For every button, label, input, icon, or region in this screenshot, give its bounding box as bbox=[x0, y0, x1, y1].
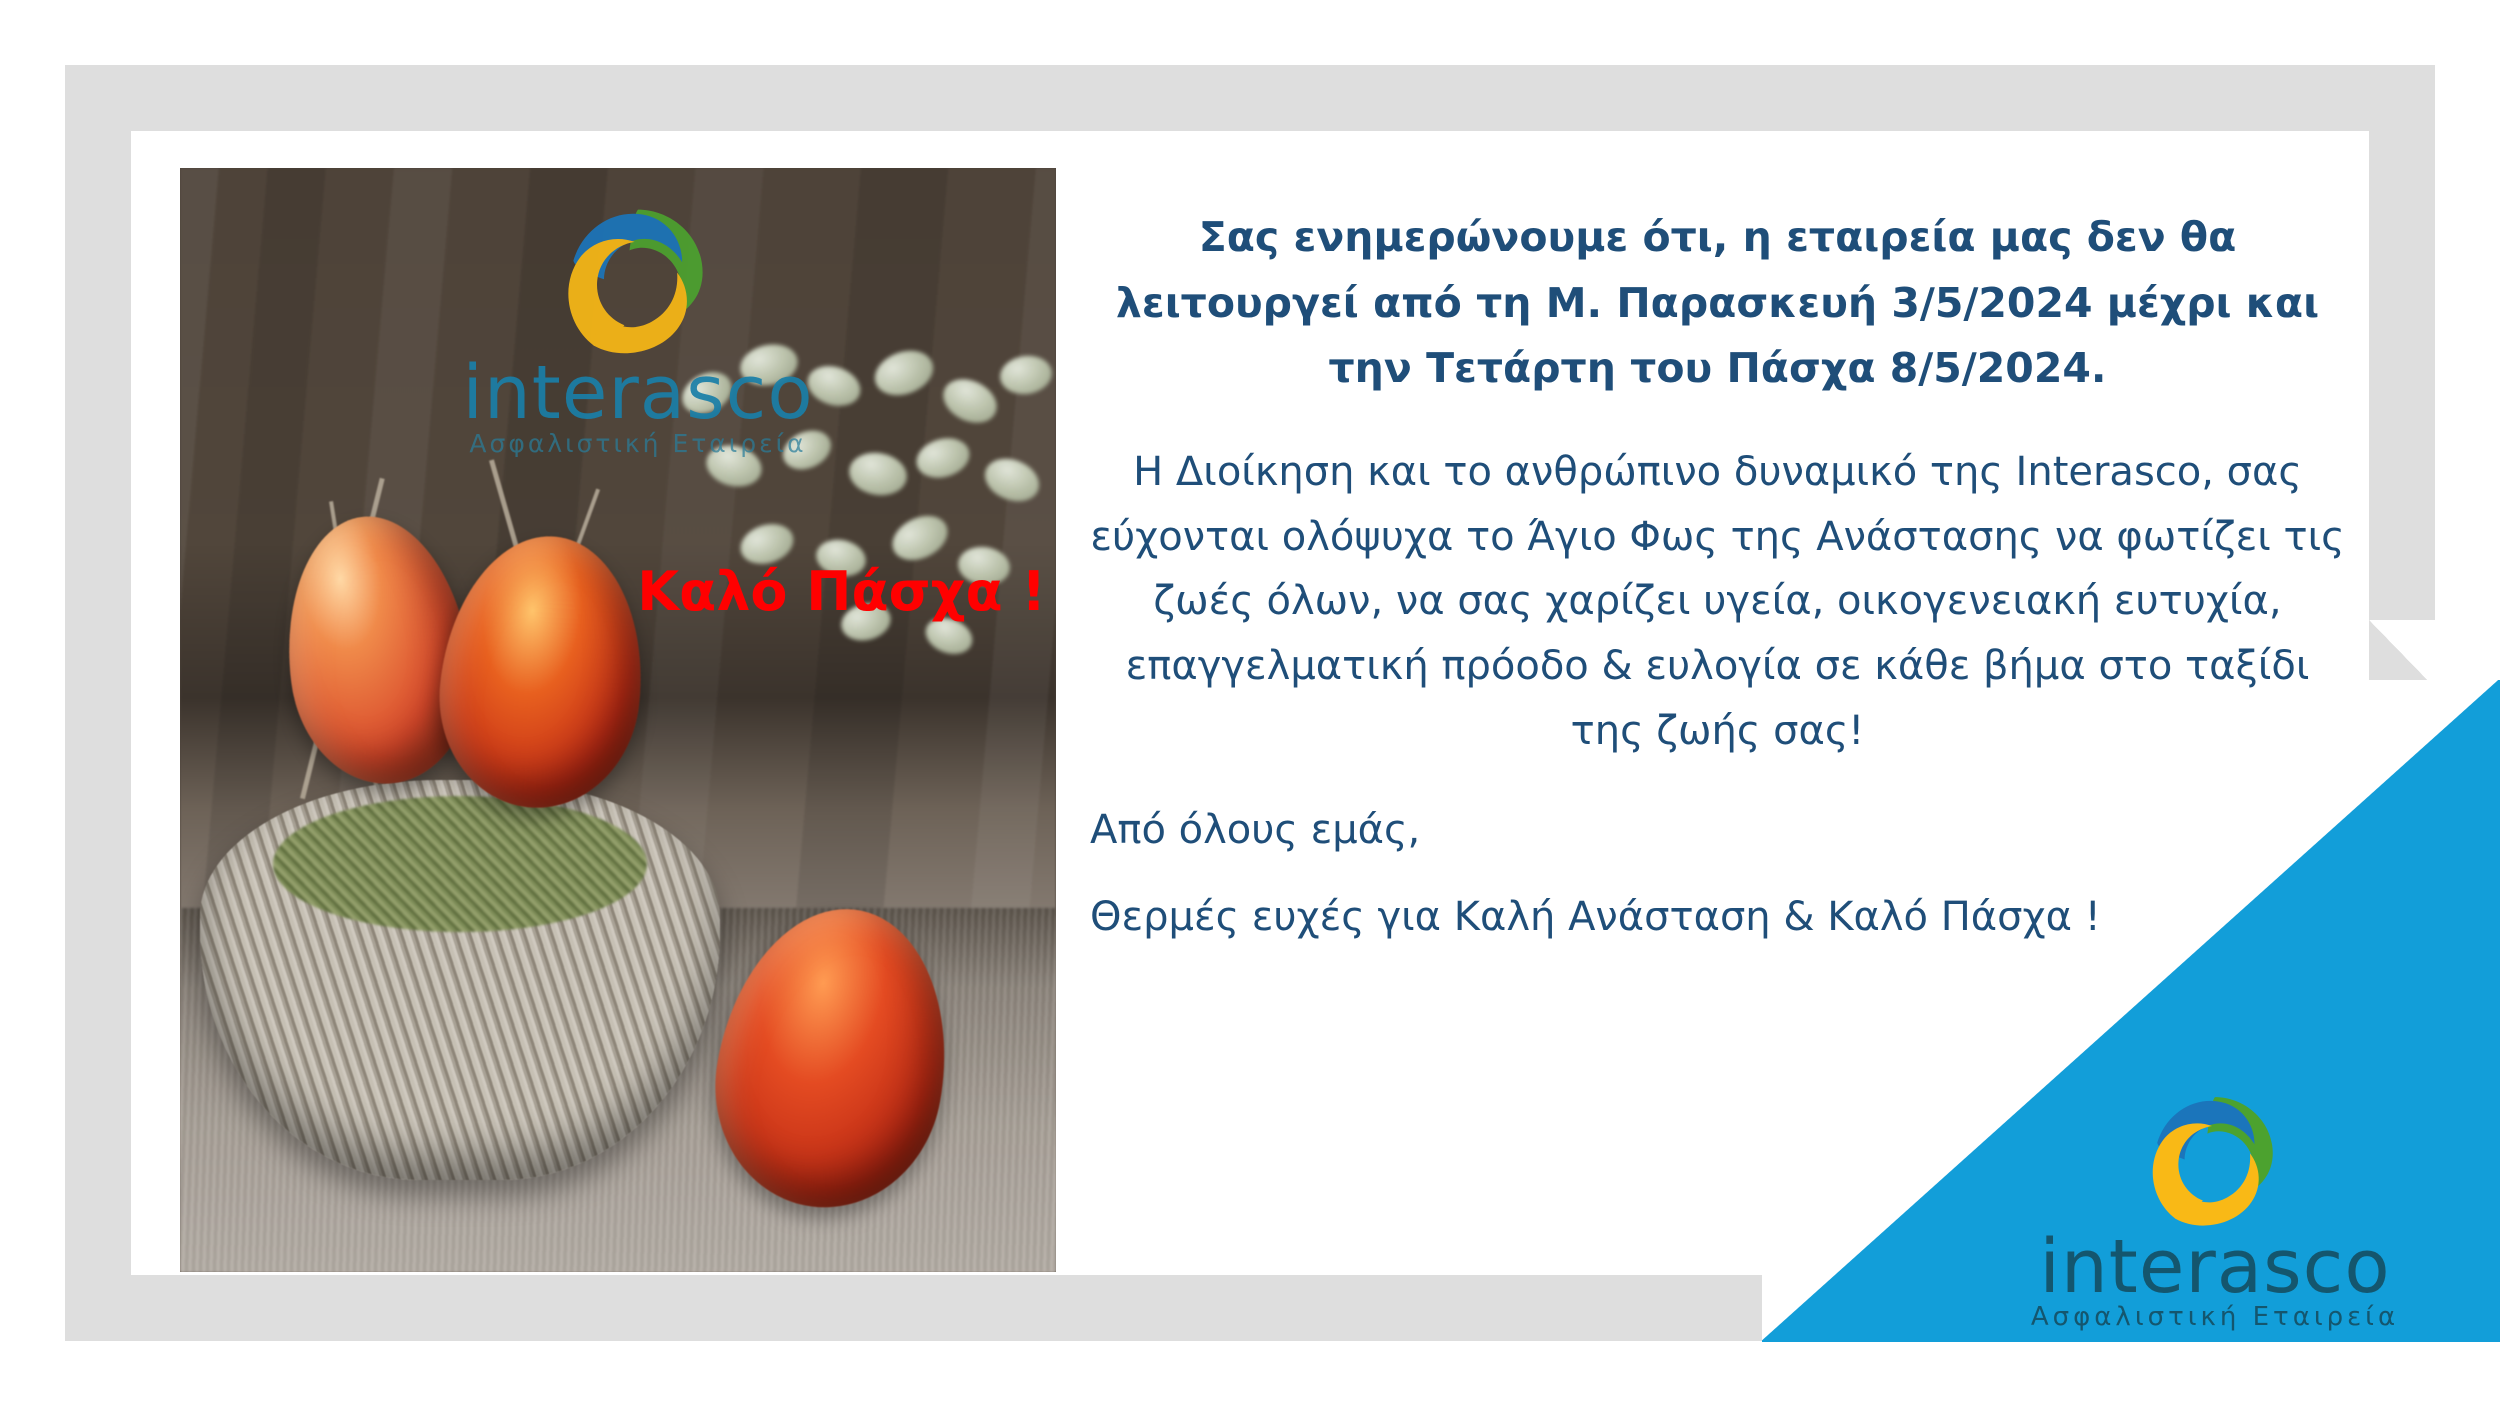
frame-border-left bbox=[65, 65, 131, 1341]
nest-moss bbox=[273, 796, 647, 932]
frame-border-top bbox=[65, 65, 2435, 131]
announcement-headline: Σας ενημερώνουμε ότι, η εταιρεία μας δεν… bbox=[1090, 205, 2345, 402]
frame-border-bottom bbox=[65, 1275, 1795, 1341]
announcement-signoff-line2: Θερμές ευχές για Καλή Ανάσταση & Καλό Πά… bbox=[1090, 885, 2345, 950]
photo-logo-wordmark: interasco bbox=[438, 360, 838, 427]
interasco-swirl-icon bbox=[2139, 1085, 2291, 1237]
corner-logo-wordmark: interasco bbox=[2005, 1233, 2425, 1301]
frame-border-right bbox=[2369, 65, 2435, 685]
wicker-nest bbox=[200, 780, 720, 1180]
photo-interasco-logo: interasco Ασφαλιστική Εταιρεία bbox=[438, 196, 838, 458]
corner-logo-tagline: Ασφαλιστική Εταιρεία bbox=[2005, 1302, 2425, 1332]
easter-greeting-overlay: Καλό Πάσχα ! bbox=[637, 560, 1046, 623]
frame-border-right-notch bbox=[2369, 620, 2435, 688]
announcement-body: Η Διοίκηση και το ανθρώπινο δυναμικό της… bbox=[1090, 440, 2345, 764]
slide-canvas: interasco Ασφαλιστική Εταιρεία Καλό Πάσχ… bbox=[0, 0, 2500, 1406]
photo-logo-tagline: Ασφαλιστική Εταιρεία bbox=[438, 429, 838, 458]
easter-photo: interasco Ασφαλιστική Εταιρεία Καλό Πάσχ… bbox=[180, 168, 1056, 1272]
corner-interasco-logo: interasco Ασφαλιστική Εταιρεία bbox=[2005, 1085, 2425, 1332]
announcement-text-column: Σας ενημερώνουμε ότι, η εταιρεία μας δεν… bbox=[1090, 205, 2345, 971]
announcement-signoff-line1: Από όλους εμάς, bbox=[1090, 798, 2345, 863]
interasco-swirl-icon bbox=[553, 196, 723, 366]
